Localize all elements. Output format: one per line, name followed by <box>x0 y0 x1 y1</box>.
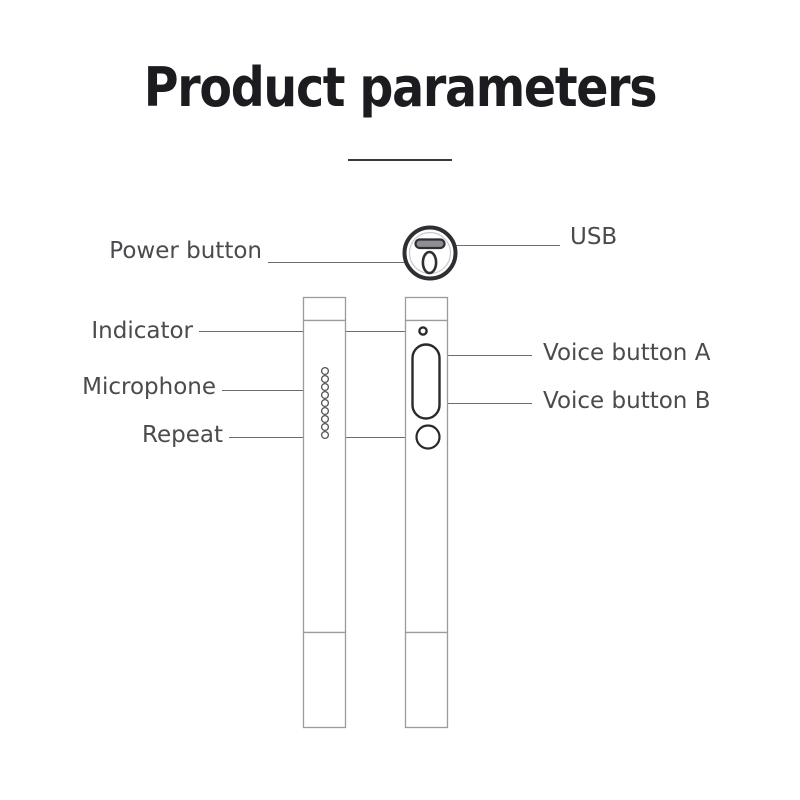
device-diagram <box>0 0 800 800</box>
voice-button-pill-icon[interactable] <box>413 345 440 419</box>
indicator-dot-icon[interactable] <box>419 327 426 334</box>
power-button-icon <box>423 252 436 273</box>
product-parameters-page: Product parameters Power button USB Indi… <box>0 0 800 800</box>
device-right-back-view <box>406 298 448 728</box>
left-device-top-cap <box>304 298 346 321</box>
top-view-end-cap <box>405 228 456 279</box>
left-device-bottom-section <box>304 633 346 728</box>
right-device-bottom-section <box>406 633 448 728</box>
usb-port-icon <box>416 240 445 249</box>
microphone-holes <box>322 368 329 439</box>
repeat-button-icon[interactable] <box>417 426 440 449</box>
device-left-front-view <box>304 298 346 728</box>
right-device-top-cap <box>406 298 448 321</box>
